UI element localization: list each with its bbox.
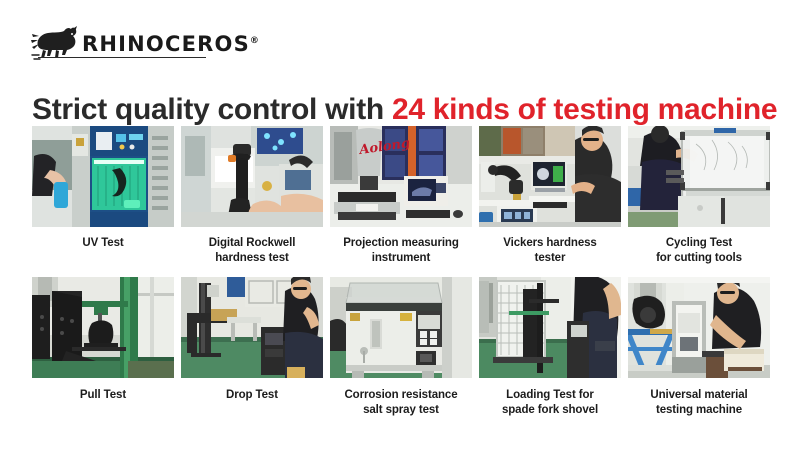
- gallery-item[interactable]: Corrosion resistancesalt spray test: [330, 277, 472, 417]
- headline-lead: Strict quality control with: [32, 93, 392, 126]
- gallery-item[interactable]: Digital Rockwellhardness test: [181, 126, 323, 265]
- gallery-item-caption: Universal materialtesting machine: [624, 388, 774, 417]
- digital-rockwell-hardness-tester-photo[interactable]: [181, 126, 323, 227]
- cycling-test-machine-photo[interactable]: [628, 126, 770, 227]
- pull-test-rig-photo[interactable]: [32, 277, 174, 378]
- gallery-item[interactable]: Loading Test forspade fork shovel: [479, 277, 621, 417]
- drop-test-machine-photo[interactable]: [181, 277, 323, 378]
- uv-test-chamber-photo[interactable]: [32, 126, 174, 227]
- vickers-hardness-tester-photo[interactable]: [479, 126, 621, 227]
- page-title: Strict quality control with 24 kinds of …: [32, 94, 780, 126]
- gallery-item-caption: Pull Test: [28, 388, 178, 403]
- gallery-item-caption: Vickers hardnesstester: [475, 236, 625, 265]
- gallery-item[interactable]: UV Test: [32, 126, 174, 265]
- logo-underline-rule: [38, 57, 206, 58]
- registered-trademark-symbol: ®: [250, 36, 259, 46]
- gallery-item-caption: Projection measuringinstrument: [326, 236, 476, 265]
- gallery-item-caption: Cycling Testfor cutting tools: [624, 236, 774, 265]
- gallery-item-caption: UV Test: [28, 236, 178, 251]
- gallery-item[interactable]: Pull Test: [32, 277, 174, 417]
- universal-material-testing-machine-photo[interactable]: [628, 277, 770, 378]
- projection-measuring-instrument-photo[interactable]: Aolong: [330, 126, 472, 227]
- gallery-item-caption: Loading Test forspade fork shovel: [475, 388, 625, 417]
- rhinoceros-logo-icon: [30, 24, 86, 64]
- testing-machine-gallery: UV Test: [32, 126, 772, 418]
- brand-wordmark: RHINOCEROS®: [82, 34, 259, 55]
- gallery-item[interactable]: Vickers hardnesstester: [479, 126, 621, 265]
- gallery-item[interactable]: Aolong Projection measuringinstrument: [330, 126, 472, 265]
- gallery-item-caption: Digital Rockwellhardness test: [177, 236, 327, 265]
- headline-accent: 24 kinds of testing machine: [392, 93, 777, 126]
- brand-logo: RHINOCEROS®: [30, 22, 259, 66]
- gallery-item-caption: Corrosion resistancesalt spray test: [326, 388, 476, 417]
- salt-spray-chamber-photo[interactable]: [330, 277, 472, 378]
- gallery-item-caption: Drop Test: [177, 388, 327, 403]
- gallery-item[interactable]: Drop Test: [181, 277, 323, 417]
- loading-test-rig-photo[interactable]: [479, 277, 621, 378]
- brand-name-text: RHINOCEROS: [82, 32, 250, 56]
- gallery-item[interactable]: Universal materialtesting machine: [628, 277, 770, 417]
- gallery-item[interactable]: Cycling Testfor cutting tools: [628, 126, 770, 265]
